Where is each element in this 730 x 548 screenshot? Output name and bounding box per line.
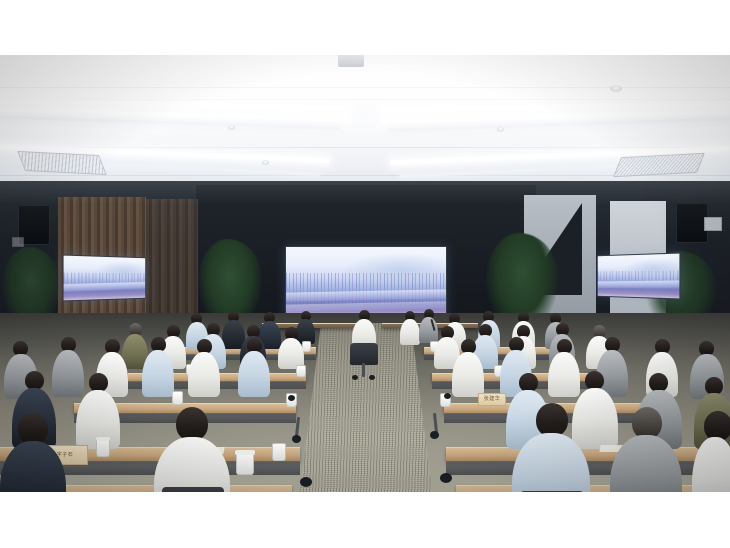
screen-skyline — [286, 273, 446, 287]
attendee — [692, 411, 730, 492]
name-placard-right-text: 张建华 — [484, 397, 501, 402]
conference-room-photo: 张建华 字子石 — [0, 55, 730, 492]
tea-cup — [172, 391, 183, 405]
left-screen-image — [64, 256, 146, 301]
chair-wheel — [369, 375, 375, 380]
chair-foreground — [520, 491, 584, 492]
projector-mount — [338, 55, 364, 67]
attendee — [400, 311, 420, 345]
wall-wood-panel-left-2 — [146, 199, 198, 327]
cup-lid — [235, 450, 255, 455]
attendee — [0, 413, 66, 492]
chair-wheel — [288, 395, 295, 401]
tea-cup — [96, 439, 110, 457]
torso — [238, 351, 270, 397]
attendee — [278, 327, 304, 369]
ceiling-seam — [0, 147, 730, 148]
wall-sign-right — [704, 217, 722, 231]
chair-wheel — [440, 473, 452, 483]
ceiling-downlight-icon — [610, 85, 622, 92]
chair-foreground — [162, 487, 224, 492]
tea-cup — [296, 365, 306, 377]
attendee-foreground-left — [154, 407, 230, 492]
torso — [142, 350, 174, 397]
torso — [610, 435, 682, 492]
head — [176, 407, 208, 441]
right-side-display[interactable] — [597, 252, 681, 299]
chair-wheel — [292, 435, 301, 443]
right-screen-image — [598, 254, 680, 299]
name-placard-right: 张建华 — [478, 393, 506, 406]
left-side-display[interactable] — [62, 254, 146, 301]
head — [536, 403, 568, 437]
attendee — [610, 407, 682, 492]
main-led-screen[interactable] — [285, 246, 447, 318]
torso — [188, 352, 220, 397]
screen-river — [64, 282, 146, 292]
ceiling-sensor-icon — [497, 127, 504, 132]
chair-wheel — [300, 477, 312, 487]
chair-post — [362, 363, 365, 377]
tea-cup — [236, 453, 254, 475]
torso — [154, 437, 230, 492]
attendee — [142, 337, 174, 397]
attendee — [238, 338, 270, 397]
main-screen-image — [286, 247, 446, 317]
torso — [692, 437, 730, 492]
attendee — [452, 339, 484, 397]
torso — [452, 352, 484, 397]
chair-wheel — [430, 431, 439, 439]
torso — [400, 319, 420, 345]
attendee-foreground-right — [512, 403, 590, 492]
desk-row-6-right — [456, 485, 730, 492]
ceiling-light-wash — [150, 63, 580, 77]
cup-lid — [96, 437, 110, 441]
screen-river — [598, 280, 680, 288]
wall-sign-left — [12, 237, 24, 247]
chair — [350, 343, 378, 365]
screenshot-root: 张建华 字子石 — [0, 0, 730, 548]
chair-wheel — [352, 375, 358, 380]
torso — [0, 441, 66, 492]
ceiling-sensor-icon — [228, 125, 235, 130]
chair-wheel — [444, 393, 451, 399]
tea-cup — [272, 443, 286, 461]
torso — [512, 433, 590, 492]
ceiling-sprinkler-icon — [262, 160, 269, 165]
attendee — [188, 339, 220, 397]
